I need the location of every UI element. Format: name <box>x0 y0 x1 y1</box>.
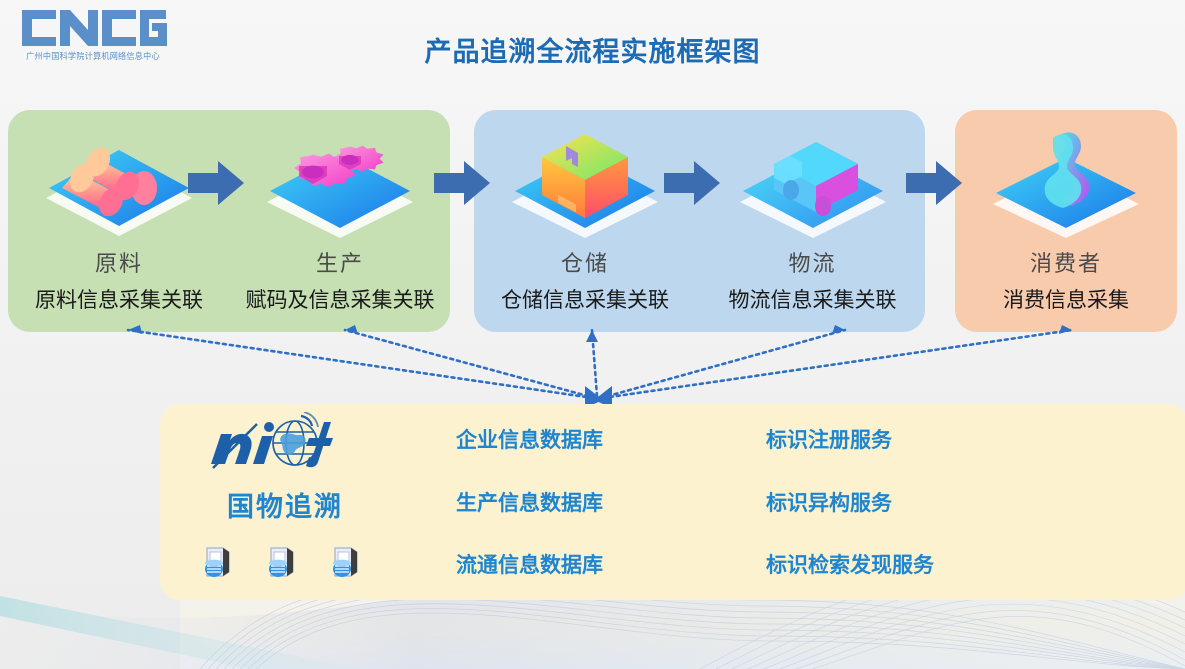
consumer-person-icon <box>981 124 1151 242</box>
link-to-consumer <box>603 330 1072 398</box>
diagram-canvas: 广州中国科学院计算机网络信息中心 产品追溯全流程实施框架图 <box>0 0 1185 669</box>
stage-name: 生产 <box>230 246 450 278</box>
database-server-icon <box>265 542 305 582</box>
service-production-database[interactable]: 生产信息数据库 <box>456 487 603 517</box>
stage-logistics[interactable]: 物流 物流信息采集关联 <box>700 110 925 332</box>
stage-name: 消费者 <box>955 246 1177 278</box>
service-identifier-registration[interactable]: 标识注册服务 <box>766 424 892 454</box>
link-to-raw-material <box>128 330 593 398</box>
stage-name: 原料 <box>8 246 230 278</box>
flow-arrow-3 <box>662 160 722 206</box>
platform-brand-name: 国物追溯 <box>190 485 380 524</box>
delivery-truck-icon <box>728 124 898 242</box>
database-server-icon <box>201 542 241 582</box>
service-circulation-database[interactable]: 流通信息数据库 <box>456 549 603 579</box>
service-identifier-discovery[interactable]: 标识检索发现服务 <box>766 549 934 579</box>
service-enterprise-database[interactable]: 企业信息数据库 <box>456 424 603 454</box>
stage-description: 原料信息采集关联 <box>8 284 230 314</box>
stage-description: 物流信息采集关联 <box>700 284 925 314</box>
stage-production[interactable]: 生产 赋码及信息采集关联 <box>230 110 450 332</box>
niot-logo-mark <box>205 412 355 474</box>
service-identifier-heterogeneous[interactable]: 标识异构服务 <box>766 487 892 517</box>
database-icon-row <box>190 542 380 586</box>
flow-arrow-1 <box>186 160 246 206</box>
stage-name: 物流 <box>700 246 925 278</box>
link-to-production <box>345 330 595 398</box>
gears-production-icon <box>255 124 425 242</box>
flow-arrow-4 <box>904 160 964 206</box>
stage-description: 仓储信息采集关联 <box>474 284 696 314</box>
stage-warehouse[interactable]: 仓储 仓储信息采集关联 <box>474 110 696 332</box>
niot-logo <box>205 412 355 474</box>
flow-arrow-2 <box>432 160 492 206</box>
link-to-warehouse <box>592 330 597 396</box>
stage-description: 赋码及信息采集关联 <box>230 284 450 314</box>
warehouse-box-icon <box>500 124 670 242</box>
stage-raw-material[interactable]: 原料 原料信息采集关联 <box>8 110 230 332</box>
database-server-icon <box>329 542 369 582</box>
stage-name: 仓储 <box>474 246 696 278</box>
raw-material-icon <box>34 124 204 242</box>
page-title: 产品追溯全流程实施框架图 <box>0 30 1185 69</box>
link-to-logistics <box>601 330 845 398</box>
stage-consumer[interactable]: 消费者 消费信息采集 <box>955 110 1177 332</box>
stage-description: 消费信息采集 <box>955 284 1177 314</box>
